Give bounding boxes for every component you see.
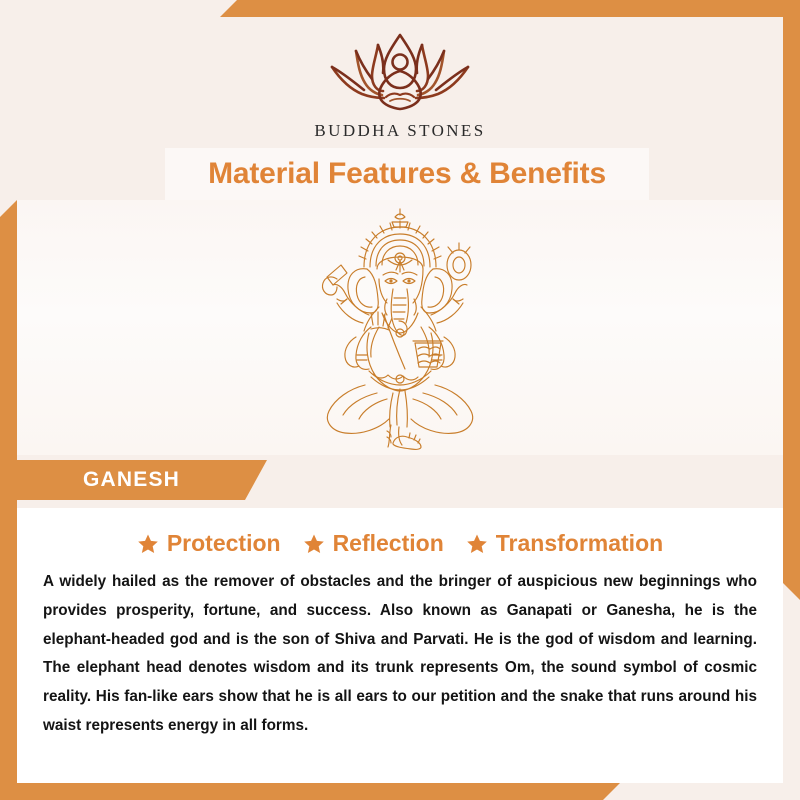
features-row: Protection Reflection [17,530,783,557]
feature-reflection: Reflection [303,530,444,557]
content-card: Protection Reflection [17,508,783,783]
ganesh-line-art-illustration [287,203,513,453]
feature-protection: Protection [137,530,281,557]
brand-name: BUDDHA STONES [17,121,783,141]
lotus-meditation-icon [17,27,783,119]
feature-label: Protection [167,530,281,557]
brand-header: BUDDHA STONES [17,27,783,141]
frame-band-bottom [0,783,620,800]
star-icon [466,533,488,555]
name-tab: GANESH [17,460,267,500]
frame-band-left [0,200,17,800]
title-banner: Material Features & Benefits [165,148,649,200]
frame-band-right [783,0,800,600]
name-tab-label: GANESH [83,468,180,492]
feature-transformation: Transformation [466,530,663,557]
feature-label: Reflection [333,530,444,557]
hero-illustration-area [17,200,783,455]
star-icon [303,533,325,555]
star-icon [137,533,159,555]
feature-label: Transformation [496,530,663,557]
page-surface: BUDDHA STONES Material Features & Benefi… [17,17,783,783]
page-title: Material Features & Benefits [208,157,606,191]
frame-band-top [220,0,800,17]
poster: BUDDHA STONES Material Features & Benefi… [0,0,800,800]
description-text: A widely hailed as the remover of obstac… [43,568,757,741]
